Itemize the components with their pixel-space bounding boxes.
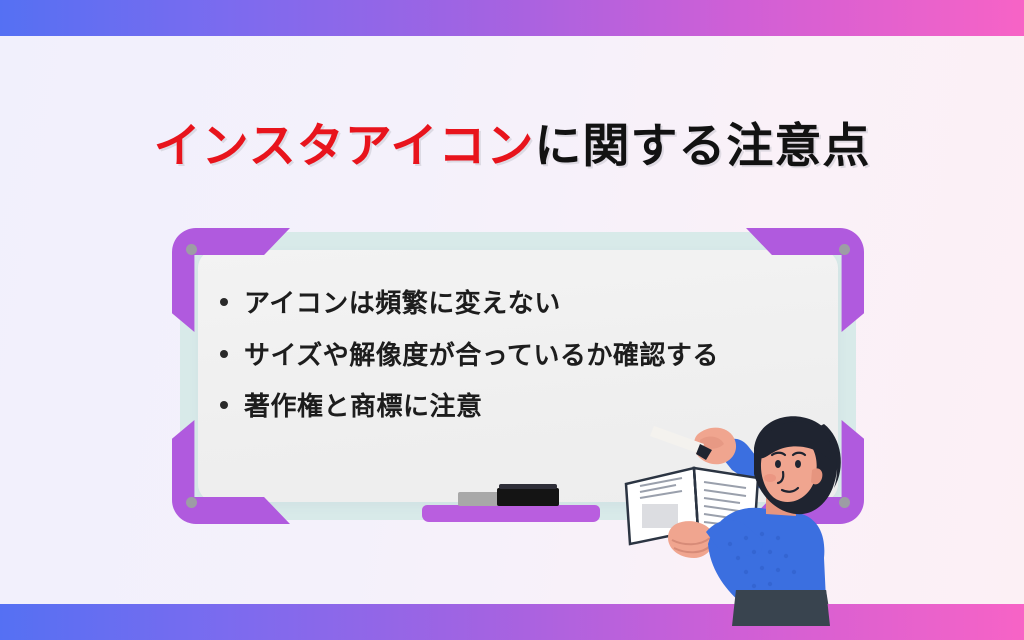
bottom-gradient-bar — [0, 604, 1024, 640]
bullet-list: アイコンは頻繁に変えない サイズや解像度が合っているか確認する 著作権と商標に注… — [220, 290, 820, 422]
list-item: サイズや解像度が合っているか確認する — [220, 342, 820, 371]
top-gradient-bar — [0, 0, 1024, 36]
page-title-accent: インスタアイコン — [154, 119, 535, 174]
illustration-skirt-overlap — [732, 590, 830, 626]
list-item-label: アイコンは頻繁に変えない — [244, 290, 561, 319]
bullet-dot-icon — [220, 401, 228, 409]
list-item: アイコンは頻繁に変えない — [220, 290, 820, 319]
marker-icon — [497, 488, 559, 506]
screw-icon — [839, 244, 850, 255]
screw-icon — [186, 244, 197, 255]
list-item-label: サイズや解像度が合っているか確認する — [244, 342, 719, 371]
marker-tray — [422, 505, 600, 522]
page-title: インスタアイコンに関する注意点 — [0, 123, 1024, 170]
bullet-dot-icon — [220, 350, 228, 358]
slide-canvas: インスタアイコンに関する注意点 アイコンは頻繁に変えない サイズや解像度が合って… — [0, 0, 1024, 640]
bullet-dot-icon — [220, 298, 228, 306]
list-item-label: 著作権と商標に注意 — [244, 393, 483, 422]
screw-icon — [186, 497, 197, 508]
page-title-rest: に関する注意点 — [534, 119, 870, 174]
